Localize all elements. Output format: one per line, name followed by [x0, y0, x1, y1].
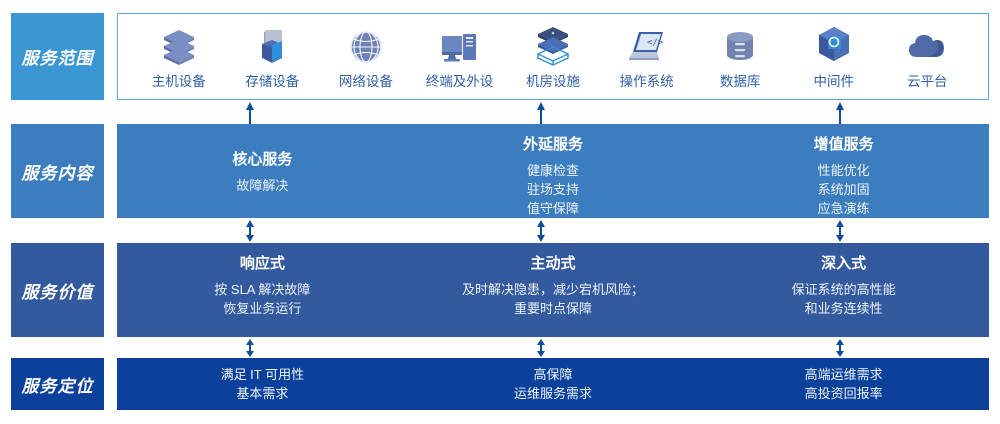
laptop-os-icon: </> — [626, 24, 668, 66]
row-label-service-value: 服务价值 — [11, 243, 104, 337]
row-service-scope: 服务范围 — [0, 13, 1000, 100]
svg-text:</>: </> — [647, 38, 664, 48]
scope-item-terminal[interactable]: 终端及外设 — [413, 24, 507, 90]
connector-content-to-value-1 — [242, 219, 258, 243]
content-line: 性能优化 — [818, 161, 870, 180]
value-line: 重要时点保障 — [462, 299, 644, 318]
value-line: 保证系统的高性能 — [792, 280, 896, 299]
scope-item-os[interactable]: </> 操作系统 — [600, 24, 694, 90]
position-column-lines: 高端运维需求 高投资回报率 — [805, 365, 883, 403]
row-label-text: 服务范围 — [22, 44, 94, 69]
position-column-basic[interactable]: 满足 IT 可用性 基本需求 — [117, 358, 408, 410]
value-column-title: 深入式 — [821, 252, 866, 273]
scope-item-label: 云平台 — [907, 70, 948, 90]
position-line: 运维服务需求 — [514, 384, 592, 403]
cube-middleware-icon — [814, 24, 854, 66]
connector-scope-to-content-2 — [533, 100, 549, 124]
position-line: 基本需求 — [221, 384, 305, 403]
value-column-deep[interactable]: 深入式 保证系统的高性能 和业务连续性 — [698, 243, 989, 337]
content-line: 健康检查 — [527, 161, 579, 180]
value-column-title: 响应式 — [240, 252, 285, 273]
content-line: 应急演练 — [818, 199, 870, 218]
value-line: 及时解决隐患，减少宕机风险； — [462, 280, 644, 299]
position-column-assurance[interactable]: 高保障 运维服务需求 — [408, 358, 699, 410]
scope-item-middleware[interactable]: 中间件 — [787, 24, 881, 90]
position-line: 高投资回报率 — [805, 384, 883, 403]
row-service-position: 服务定位 满足 IT 可用性 基本需求 高保障 运维服务需求 高端运维需求 高投… — [0, 358, 1000, 410]
row-label-service-scope: 服务范围 — [11, 13, 104, 100]
value-column-lines: 按 SLA 解决故障 恢复业务运行 — [214, 280, 310, 318]
scope-item-label: 机房设施 — [526, 70, 580, 90]
position-columns-container: 满足 IT 可用性 基本需求 高保障 运维服务需求 高端运维需求 高投资回报率 — [117, 358, 989, 410]
content-column-extended[interactable]: 外延服务 健康检查 驻场支持 值守保障 — [408, 124, 699, 218]
row-label-service-content: 服务内容 — [11, 124, 104, 218]
content-line: 值守保障 — [527, 199, 579, 218]
content-column-valueadd[interactable]: 增值服务 性能优化 系统加固 应急演练 — [698, 124, 989, 218]
storage-array-icon — [252, 24, 292, 66]
content-column-title: 外延服务 — [523, 133, 583, 154]
scope-item-label: 操作系统 — [620, 70, 674, 90]
globe-network-icon — [346, 24, 386, 66]
scope-items-container: 主机设备 存储设备 — [117, 13, 989, 100]
position-column-lines: 满足 IT 可用性 基本需求 — [221, 365, 305, 403]
position-line: 满足 IT 可用性 — [221, 365, 305, 384]
server-stack-icon — [159, 24, 199, 66]
connector-scope-to-content-1 — [242, 100, 258, 124]
row-label-text: 服务内容 — [22, 159, 94, 184]
value-columns-container: 响应式 按 SLA 解决故障 恢复业务运行 主动式 及时解决隐患，减少宕机风险；… — [117, 243, 989, 337]
connector-scope-to-content-3 — [832, 100, 848, 124]
scope-item-label: 存储设备 — [245, 70, 299, 90]
value-line: 按 SLA 解决故障 — [214, 280, 310, 299]
position-column-lines: 高保障 运维服务需求 — [514, 365, 592, 403]
value-column-reactive[interactable]: 响应式 按 SLA 解决故障 恢复业务运行 — [117, 243, 408, 337]
row-service-value: 服务价值 响应式 按 SLA 解决故障 恢复业务运行 主动式 及时解决隐患，减少… — [0, 243, 1000, 337]
content-column-lines: 健康检查 驻场支持 值守保障 — [527, 161, 579, 218]
position-line: 高端运维需求 — [805, 365, 883, 384]
scope-item-storage[interactable]: 存储设备 — [226, 24, 320, 90]
value-column-lines: 及时解决隐患，减少宕机风险； 重要时点保障 — [462, 280, 644, 318]
content-line: 系统加固 — [818, 180, 870, 199]
scope-item-label: 网络设备 — [339, 70, 393, 90]
scope-item-label: 中间件 — [813, 70, 854, 90]
position-column-highend[interactable]: 高端运维需求 高投资回报率 — [698, 358, 989, 410]
content-column-core[interactable]: 核心服务 故障解决 — [117, 124, 408, 218]
row-label-text: 服务价值 — [22, 278, 94, 303]
value-column-proactive[interactable]: 主动式 及时解决隐患，减少宕机风险； 重要时点保障 — [408, 243, 699, 337]
row-service-content: 服务内容 核心服务 故障解决 外延服务 健康检查 驻场支持 值守保障 增值服务 — [0, 124, 1000, 218]
desktop-terminal-icon — [438, 24, 480, 66]
scope-item-label: 数据库 — [720, 70, 761, 90]
value-line: 和业务连续性 — [792, 299, 896, 318]
database-cylinder-icon — [720, 24, 760, 66]
content-column-title: 增值服务 — [814, 133, 874, 154]
content-line: 驻场支持 — [527, 180, 579, 199]
scope-item-label: 主机设备 — [152, 70, 206, 90]
content-column-lines: 故障解决 — [236, 176, 288, 195]
scope-item-network[interactable]: 网络设备 — [319, 24, 413, 90]
connector-value-to-position-2 — [533, 338, 549, 358]
row-label-service-position: 服务定位 — [11, 358, 104, 410]
content-line: 故障解决 — [236, 176, 288, 195]
content-column-lines: 性能优化 系统加固 应急演练 — [818, 161, 870, 218]
connector-value-to-position-3 — [832, 338, 848, 358]
row-label-text: 服务定位 — [22, 372, 94, 397]
scope-item-label: 终端及外设 — [426, 70, 494, 90]
value-line: 恢复业务运行 — [214, 299, 310, 318]
cloud-platform-icon — [905, 24, 949, 66]
connector-content-to-value-3 — [832, 219, 848, 243]
connector-value-to-position-1 — [242, 338, 258, 358]
service-framework-diagram: 服务范围 — [0, 0, 1000, 424]
content-columns-container: 核心服务 故障解决 外延服务 健康检查 驻场支持 值守保障 增值服务 性能优化 … — [117, 124, 989, 218]
scope-item-cloud[interactable]: 云平台 — [881, 24, 975, 90]
scope-item-database[interactable]: 数据库 — [693, 24, 787, 90]
connector-content-to-value-2 — [533, 219, 549, 243]
scope-item-datacenter[interactable]: 机房设施 — [506, 24, 600, 90]
value-column-title: 主动式 — [531, 252, 576, 273]
scope-item-host[interactable]: 主机设备 — [132, 24, 226, 90]
value-column-lines: 保证系统的高性能 和业务连续性 — [792, 280, 896, 318]
position-line: 高保障 — [514, 365, 592, 384]
datacenter-rack-icon — [532, 24, 574, 66]
content-column-title: 核心服务 — [232, 148, 292, 169]
